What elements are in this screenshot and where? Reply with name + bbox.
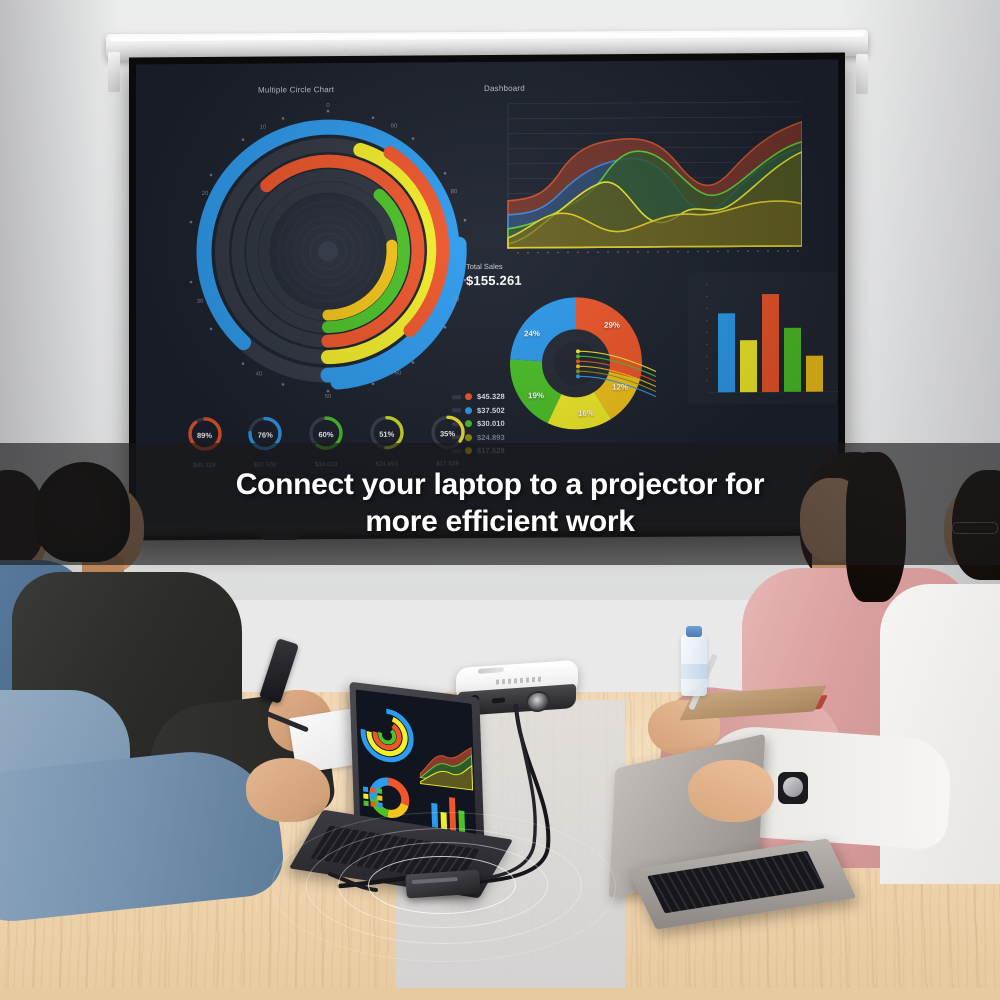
- radial-tick-70: 70: [453, 297, 460, 303]
- dashboard-area-chart: [484, 96, 802, 266]
- radial-tick-80: 80: [451, 189, 458, 195]
- bar-chart-svg: [688, 272, 838, 405]
- gauge-percent: 60%: [303, 430, 350, 439]
- sales-bar-chart: [688, 272, 838, 405]
- person-blue-sleeve-hand: [246, 758, 330, 822]
- radial-tick-90: 90: [391, 124, 398, 130]
- bar-4: [784, 328, 801, 392]
- water-bottle-cap: [686, 626, 702, 637]
- person-white-shirt-hand: [688, 760, 774, 822]
- donut-label-19: 19%: [528, 391, 544, 400]
- caption-line-1: Connect your laptop to a projector for: [236, 467, 765, 504]
- donut-label-12: 12%: [612, 383, 628, 392]
- dashboard-title: Dashboard: [484, 84, 525, 93]
- gauge-percent: 35%: [424, 429, 471, 438]
- legend-item: $45.328: [452, 390, 505, 404]
- donut-label-29: 29%: [604, 321, 620, 330]
- total-sales-label: Total Sales: [466, 262, 522, 271]
- radial-tick-0: 0: [326, 103, 329, 109]
- housing-cap-left: [108, 52, 120, 92]
- legend-value: $37.502: [477, 406, 505, 415]
- radial-tick-60: 60: [395, 371, 402, 377]
- wristwatch: [778, 772, 808, 804]
- table-front-edge: [0, 988, 1000, 1000]
- gauge-percent: 76%: [242, 430, 289, 439]
- water-bottle-label: [681, 664, 707, 679]
- gauge-percent: 89%: [181, 431, 228, 440]
- area-chart-svg: [484, 96, 802, 266]
- bar-2: [740, 340, 757, 392]
- legend-value: $45.328: [477, 392, 505, 401]
- caption-line-2: more efficient work: [365, 504, 634, 541]
- legend-value: $24.893: [477, 433, 505, 442]
- radial-tick-10: 10: [260, 125, 267, 131]
- gauge-percent: 51%: [363, 430, 410, 439]
- scene: Multiple Circle Chart: [0, 0, 1000, 1000]
- legend-value: $30.010: [477, 419, 505, 428]
- radial-chart-svg: [186, 100, 471, 402]
- radial-tick-30: 30: [197, 299, 204, 305]
- legend-swatch-icon: [465, 393, 472, 400]
- total-sales-donut: 29% 12% 16% 19% 24%: [496, 283, 656, 444]
- multiple-circle-chart: 0 10 20 30 40 50 60 70 80 90: [186, 100, 471, 402]
- housing-cap-right: [856, 54, 868, 94]
- usb-c-hdmi-adapter[interactable]: [405, 869, 480, 898]
- caption-overlay: Connect your laptop to a projector for m…: [0, 443, 1000, 565]
- donut-svg: [496, 283, 656, 444]
- donut-label-16: 16%: [578, 409, 594, 418]
- bar-5: [806, 356, 823, 392]
- donut-label-24: 24%: [524, 329, 540, 338]
- radial-chart-title: Multiple Circle Chart: [258, 85, 334, 95]
- projector-hdmi-port: [492, 698, 505, 704]
- bar-1: [718, 313, 735, 392]
- bar-3: [762, 294, 779, 392]
- radial-tick-50: 50: [325, 394, 332, 400]
- legend-bar-icon: [452, 395, 461, 399]
- radial-tick-20: 20: [202, 191, 209, 197]
- radial-tick-40: 40: [256, 372, 263, 378]
